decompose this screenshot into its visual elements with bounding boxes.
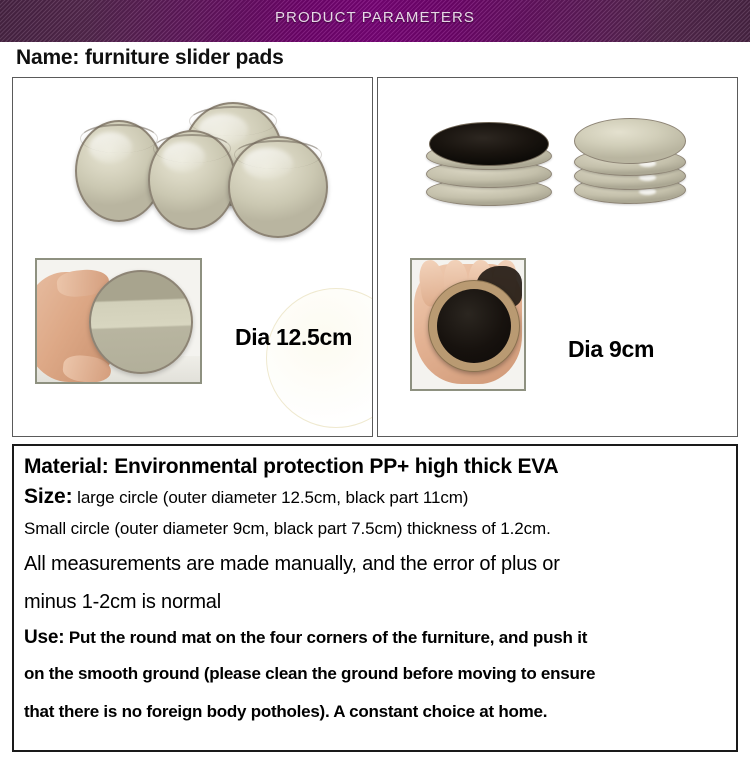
disc-stack-beige	[574, 118, 686, 216]
inset-photo-hand-large	[35, 258, 202, 384]
image-panels: Dia 12.5cm	[12, 77, 738, 437]
dia-label-large: Dia 12.5cm	[235, 324, 352, 351]
disc-large-4	[228, 136, 328, 238]
panel-large-disc: Dia 12.5cm	[12, 77, 373, 437]
spec-use-line-1: Use: Put the round mat on the four corne…	[24, 621, 726, 655]
disc-rim	[153, 134, 230, 163]
disc-large-2	[148, 130, 236, 230]
panel-small-disc: Dia 9cm	[377, 77, 738, 437]
pp-pad-top	[574, 118, 686, 164]
ghost-circle-decoration	[266, 288, 373, 428]
banner-title: PRODUCT PARAMETERS	[0, 9, 750, 26]
spec-tolerance-line-1: All measurements are made manually, and …	[24, 545, 726, 583]
spec-size-label: Size:	[24, 485, 73, 508]
spec-use-label: Use:	[24, 627, 64, 648]
product-name-line: Name: furniture slider pads	[16, 46, 284, 70]
inset-photo-hand-small	[410, 258, 526, 391]
specification-textbox: Material: Environmental protection PP+ h…	[12, 444, 738, 752]
disc-rim	[80, 124, 157, 153]
spec-small-circle-line: Small circle (outer diameter 9cm, black …	[24, 513, 726, 545]
spec-use-line-3: that there is no foreign body potholes).…	[24, 693, 726, 731]
spec-tolerance-line-2: minus 1-2cm is normal	[24, 583, 726, 621]
spec-size-text: large circle (outer diameter 12.5cm, bla…	[73, 488, 469, 507]
eva-surface	[437, 289, 511, 363]
product-parameters-page: PRODUCT PARAMETERS Name: furniture slide…	[0, 0, 750, 765]
spec-size-line: Size: large circle (outer diameter 12.5c…	[24, 482, 726, 513]
held-disc-small	[428, 280, 520, 372]
disc-stack-black	[426, 122, 552, 222]
header-banner: PRODUCT PARAMETERS	[0, 0, 750, 42]
held-disc-large	[89, 270, 193, 374]
spec-use-text: Put the round mat on the four corners of…	[64, 628, 587, 647]
spec-use-line-2: on the smooth ground (please clean the g…	[24, 655, 726, 693]
eva-pad-top	[429, 122, 549, 166]
spec-material-line: Material: Environmental protection PP+ h…	[24, 452, 726, 482]
disc-rim	[234, 140, 322, 169]
dia-label-small: Dia 9cm	[568, 336, 654, 363]
